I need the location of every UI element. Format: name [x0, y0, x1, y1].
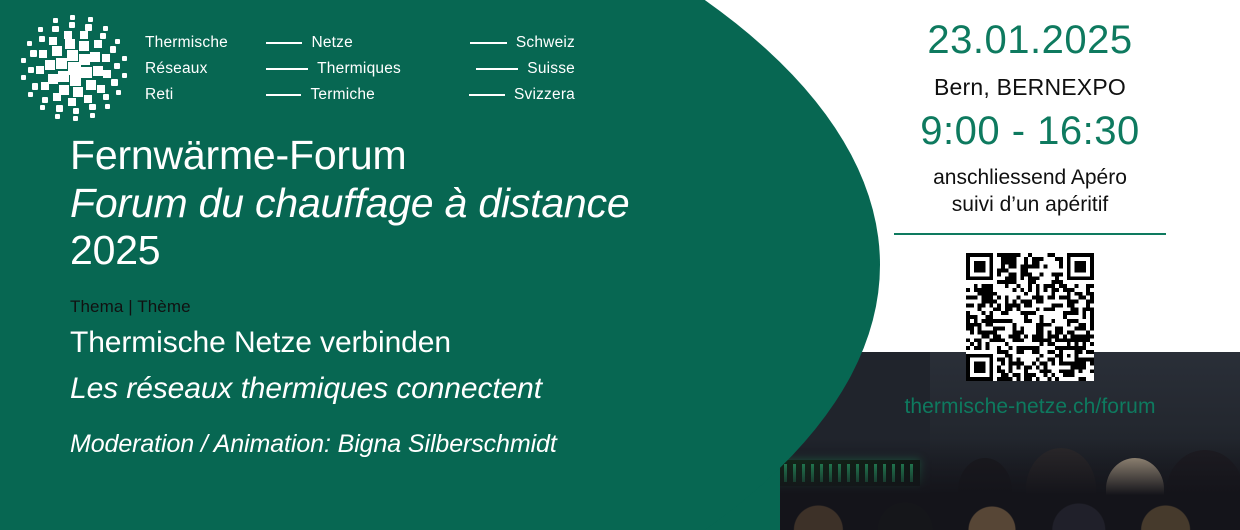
wordmark-it-2: Termiche	[310, 86, 460, 104]
wordmark-row-de: Thermische Netze Schweiz	[145, 30, 575, 56]
wordmark-rule	[266, 94, 301, 96]
wordmark-de-3: Schweiz	[516, 34, 575, 52]
wordmark-rule	[266, 68, 308, 70]
apero-fr: suivi d’un apéritif	[865, 192, 1195, 219]
wordmark-row-it: Reti Termiche Svizzera	[145, 82, 575, 108]
divider-rule	[894, 233, 1166, 235]
wordmark-rule	[476, 68, 518, 70]
event-banner: ? ? ?	[0, 0, 1240, 530]
wordmark-it-1: Reti	[145, 86, 257, 104]
qr-code[interactable]	[966, 253, 1094, 381]
wordmark-fr-3: Suisse	[527, 60, 575, 78]
wordmark-rule	[266, 42, 302, 44]
moderation-line: Moderation / Animation: Bigna Silberschm…	[70, 430, 790, 459]
wordmark-de-1: Thermische	[145, 34, 257, 52]
event-place: Bern, BERNEXPO	[865, 74, 1195, 101]
wordmark: Thermische Netze Schweiz Réseaux Thermiq…	[145, 30, 575, 108]
thema-de: Thermische Netze verbinden	[70, 323, 790, 363]
bottom-white-strip	[85, 516, 410, 530]
wordmark-de-2: Netze	[311, 34, 461, 52]
event-info-panel: 23.01.2025 Bern, BERNEXPO 9:00 - 16:30 a…	[865, 18, 1195, 419]
event-title-fr: Forum du chauffage à distance	[70, 180, 790, 228]
event-url[interactable]: thermische-netze.ch/forum	[865, 395, 1195, 419]
wordmark-rule	[470, 42, 506, 44]
apero-note: anschliessend Apéro suivi d’un apéritif	[865, 165, 1195, 219]
thema-fr: Les réseaux thermiques connectent	[70, 369, 790, 409]
event-date: 23.01.2025	[865, 18, 1195, 62]
event-details: Fernwärme-Forum Forum du chauffage à dis…	[70, 132, 790, 459]
wordmark-rule	[469, 94, 504, 96]
wordmark-fr-1: Réseaux	[145, 60, 257, 78]
thema-label: Thema | Thème	[70, 297, 790, 317]
wordmark-it-3: Svizzera	[514, 86, 575, 104]
event-time: 9:00 - 16:30	[865, 109, 1195, 153]
apero-de: anschliessend Apéro	[865, 165, 1195, 192]
wordmark-fr-2: Thermiques	[317, 60, 467, 78]
event-title-de: Fernwärme-Forum	[70, 132, 790, 180]
wordmark-row-fr: Réseaux Thermiques Suisse	[145, 56, 575, 82]
event-year: 2025	[70, 227, 790, 275]
thermische-netze-logo-icon	[18, 12, 130, 124]
